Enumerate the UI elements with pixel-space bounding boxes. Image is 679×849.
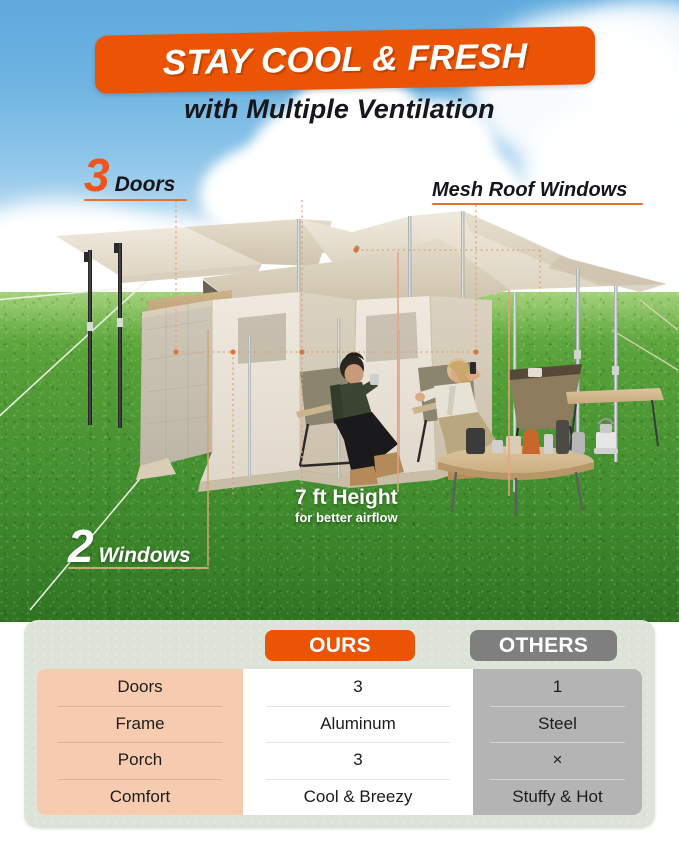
headline-subtitle: with Multiple Ventilation (0, 94, 679, 125)
canopy-pole (408, 216, 411, 311)
table-cell-feature: Porch (37, 742, 243, 779)
table-cell-others: Stuffy & Hot (473, 779, 642, 816)
table-cell-ours: 3 (243, 669, 473, 706)
table-cell-feature: Frame (37, 706, 243, 743)
callout-doors-underline (84, 199, 187, 201)
callout-doors-label: Doors (115, 174, 176, 198)
awning-pole (88, 250, 92, 425)
table-cell-others: 1 (473, 669, 642, 706)
table-cell-others: × (473, 742, 642, 779)
table-cell-others: Steel (473, 706, 642, 743)
headline-title: STAY COOL & FRESH (95, 26, 595, 94)
table-cell-ours: Aluminum (243, 706, 473, 743)
callout-windows-underline (68, 567, 209, 569)
column-header-ours: OURS (265, 630, 415, 661)
callout-height: 7 ft Height for better airflow (295, 487, 398, 525)
table-cell-feature: Doors (37, 669, 243, 706)
callout-mesh-roof-windows: Mesh Roof Windows (432, 180, 627, 201)
product-infographic: STAY COOL & FRESH with Multiple Ventilat… (0, 0, 679, 849)
guy-line (612, 300, 678, 370)
callout-height-subtitle: for better airflow (295, 510, 398, 526)
tent-pole (248, 336, 251, 478)
callout-height-title: 7 ft Height (295, 487, 398, 510)
table-cell-ours: Cool & Breezy (243, 779, 473, 816)
callout-mesh-label: Mesh Roof Windows (432, 179, 627, 201)
camp-table (438, 446, 594, 516)
callout-windows: 2 Windows (68, 523, 191, 569)
callout-doors-number: 3 (84, 152, 110, 198)
awning-pole (118, 243, 122, 428)
callout-doors: 3 Doors (84, 152, 175, 198)
callout-mesh-underline (432, 203, 643, 205)
table-cell-ours: 3 (243, 742, 473, 779)
column-header-others: OTHERS (470, 630, 617, 661)
comparison-table: Doors 3 1 Frame Aluminum Steel Porch 3 ×… (37, 669, 642, 815)
callout-windows-number: 2 (68, 523, 94, 569)
callout-windows-label: Windows (99, 545, 191, 569)
table-cell-feature: Comfort (37, 779, 243, 816)
